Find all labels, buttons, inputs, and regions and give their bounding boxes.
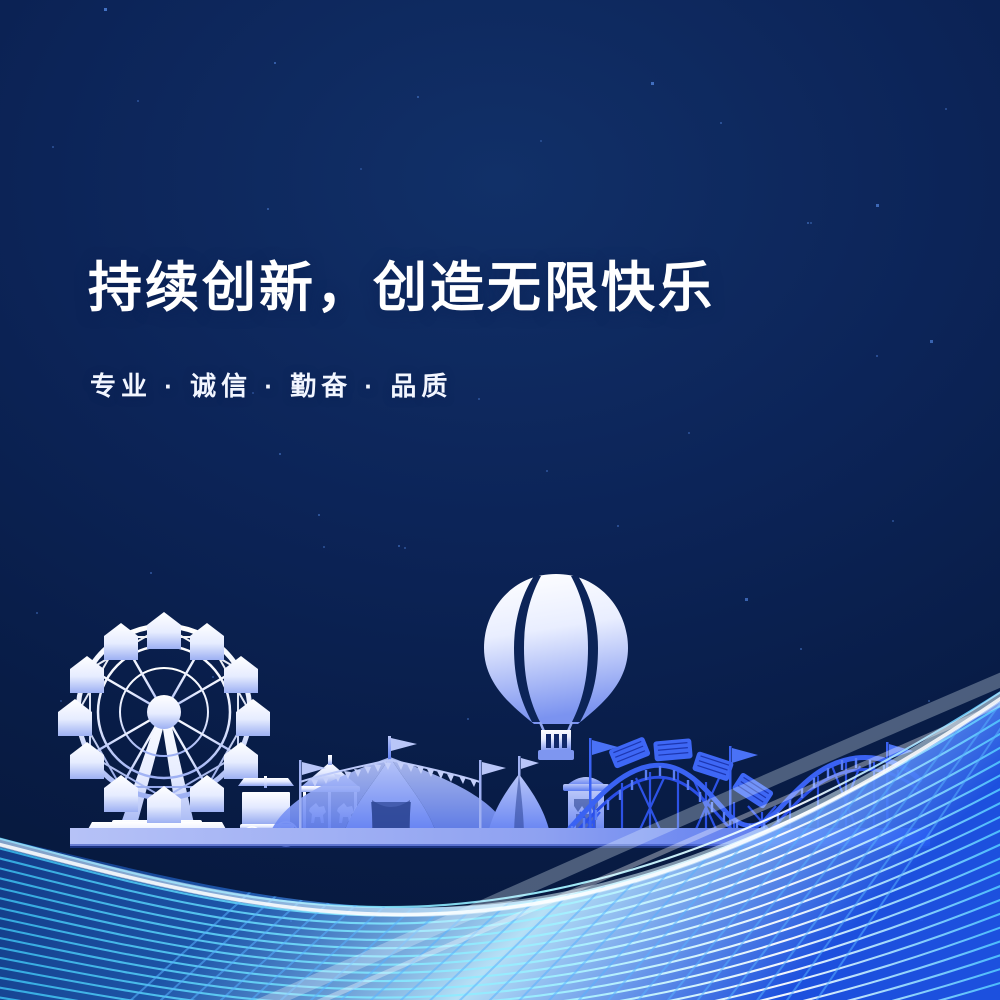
light-wave-decoration bbox=[0, 0, 1000, 1000]
poster-canvas: 持续创新，创造无限快乐 专业 · 诚信 · 勤奋 · 品质 bbox=[0, 0, 1000, 1000]
